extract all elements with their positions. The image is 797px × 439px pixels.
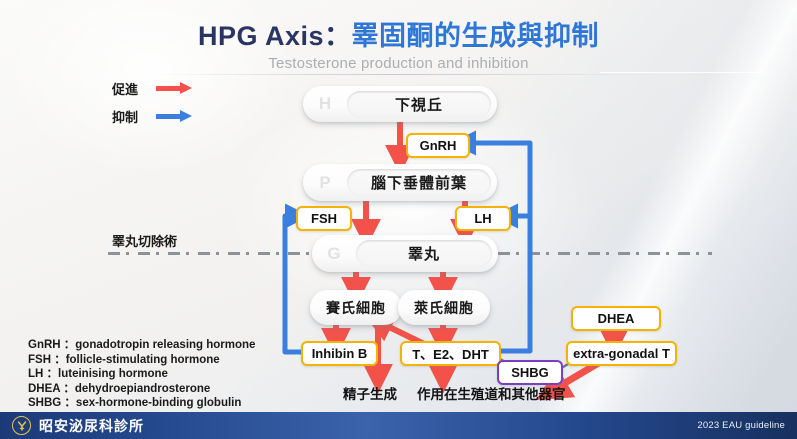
abbreviation-item: LH ：luteinising hormone	[28, 367, 255, 382]
title-english: HPG Axis	[198, 21, 324, 51]
legend-item-promote: 促進	[112, 76, 196, 100]
arrow-legend: 促進 抑制	[112, 76, 196, 132]
slide-canvas: HPG Axis：睪固酮的生成與抑制 Testosterone producti…	[0, 0, 797, 439]
title-separator: ：	[324, 21, 352, 51]
badge-shbg[interactable]: SHBG	[497, 360, 563, 385]
cell-box-sertoli[interactable]: 賽氏細胞	[310, 290, 402, 325]
blue-arrow-icon	[156, 111, 196, 121]
title-chinese: 睪固酮的生成與抑制	[352, 21, 600, 51]
hypothalamus-letter-icon: H	[303, 94, 347, 114]
organ-box-pituitary[interactable]: P 腦下垂體前葉	[303, 164, 497, 201]
abbreviation-legend: GnRH ：gonadotropin releasing hormone FSH…	[28, 338, 255, 411]
page-title: HPG Axis：睪固酮的生成與抑制 Testosterone producti…	[0, 22, 797, 72]
title-divider	[150, 74, 650, 75]
badge-lh[interactable]: LH	[455, 206, 511, 231]
organ-box-testis[interactable]: G 睪丸	[312, 235, 498, 272]
legend-label-promote: 促進	[112, 79, 148, 98]
orchiectomy-label: 睪丸切除術	[112, 231, 177, 250]
testis-label: 睪丸	[356, 240, 492, 267]
clinic-name: 昭安泌尿科診所	[39, 416, 144, 436]
abbreviation-item: SHBG ：sex-hormone-binding globulin	[28, 396, 255, 411]
badge-dhea[interactable]: DHEA	[571, 306, 661, 331]
background-line	[600, 72, 760, 73]
organ-box-hypothalamus[interactable]: H 下視丘	[303, 86, 497, 122]
badge-fsh[interactable]: FSH	[296, 206, 352, 231]
legend-item-inhibit: 抑制	[112, 104, 196, 128]
legend-label-inhibit: 抑制	[112, 107, 148, 126]
badge-extra-gonadal-t[interactable]: extra-gonadal T	[566, 341, 677, 366]
abbreviation-item: DHEA ：dehydroepiandrosterone	[28, 382, 255, 397]
hypothalamus-label: 下視丘	[347, 91, 491, 117]
clinic-logo-icon	[12, 416, 31, 435]
cell-box-leydig[interactable]: 萊氏細胞	[398, 290, 490, 325]
outcome-spermatogenesis: 精子生成	[343, 383, 397, 403]
abbreviation-item: GnRH ：gonadotropin releasing hormone	[28, 338, 255, 353]
source-citation: 2023 EAU guideline	[697, 420, 785, 431]
outcome-target-organs: 作用在生殖道和其他器官	[417, 383, 566, 403]
badge-androgens[interactable]: T、E2、DHT	[400, 341, 501, 366]
pituitary-label: 腦下垂體前葉	[347, 169, 491, 196]
page-subtitle: Testosterone production and inhibition	[0, 55, 797, 72]
badge-gnrh[interactable]: GnRH	[406, 133, 470, 158]
red-arrow-icon	[156, 83, 196, 93]
footer-bar: 昭安泌尿科診所 2023 EAU guideline	[0, 412, 797, 439]
pituitary-letter-icon: P	[303, 173, 347, 193]
abbreviation-item: FSH ：follicle-stimulating hormone	[28, 353, 255, 368]
badge-inhibin-b[interactable]: Inhibin B	[301, 341, 378, 366]
testis-letter-icon: G	[312, 244, 356, 264]
